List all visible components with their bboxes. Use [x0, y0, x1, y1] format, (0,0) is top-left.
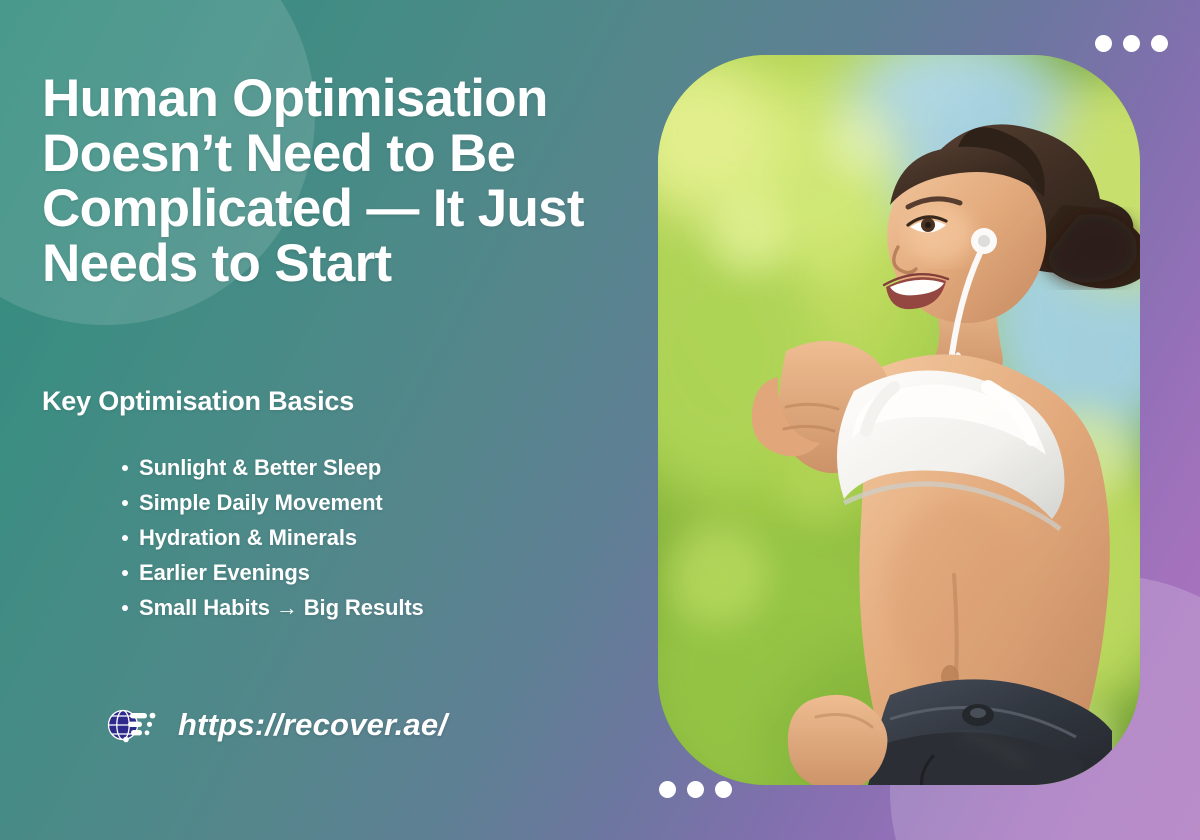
dot	[715, 781, 732, 798]
footer-url-block[interactable]: https://recover.ae/	[104, 702, 447, 748]
runner-photo-illustration	[658, 55, 1140, 785]
list-item: Sunlight & Better Sleep	[122, 450, 424, 485]
dot	[659, 781, 676, 798]
dot-decoration-top-right	[1095, 35, 1168, 52]
dot	[1151, 35, 1168, 52]
page-title: Human Optimisation Doesn’t Need to Be Co…	[42, 72, 652, 291]
list-item: Hydration & Minerals	[122, 520, 424, 555]
text-column: Human Optimisation Doesn’t Need to Be Co…	[42, 72, 652, 291]
website-url[interactable]: https://recover.ae/	[178, 707, 447, 743]
globe-motion-icon	[104, 702, 160, 748]
hero-photo	[658, 55, 1140, 785]
dot	[687, 781, 704, 798]
list-item: Earlier Evenings	[122, 555, 424, 590]
list-item: Small Habits → Big Results	[122, 590, 424, 625]
list-item: Simple Daily Movement	[122, 485, 424, 520]
poster-canvas: Human Optimisation Doesn’t Need to Be Co…	[0, 0, 1200, 840]
dot	[1123, 35, 1140, 52]
benefits-list: Sunlight & Better Sleep Simple Daily Mov…	[100, 450, 424, 625]
dot	[1095, 35, 1112, 52]
dot-decoration-bottom	[659, 781, 732, 798]
subheading: Key Optimisation Basics	[42, 386, 354, 417]
